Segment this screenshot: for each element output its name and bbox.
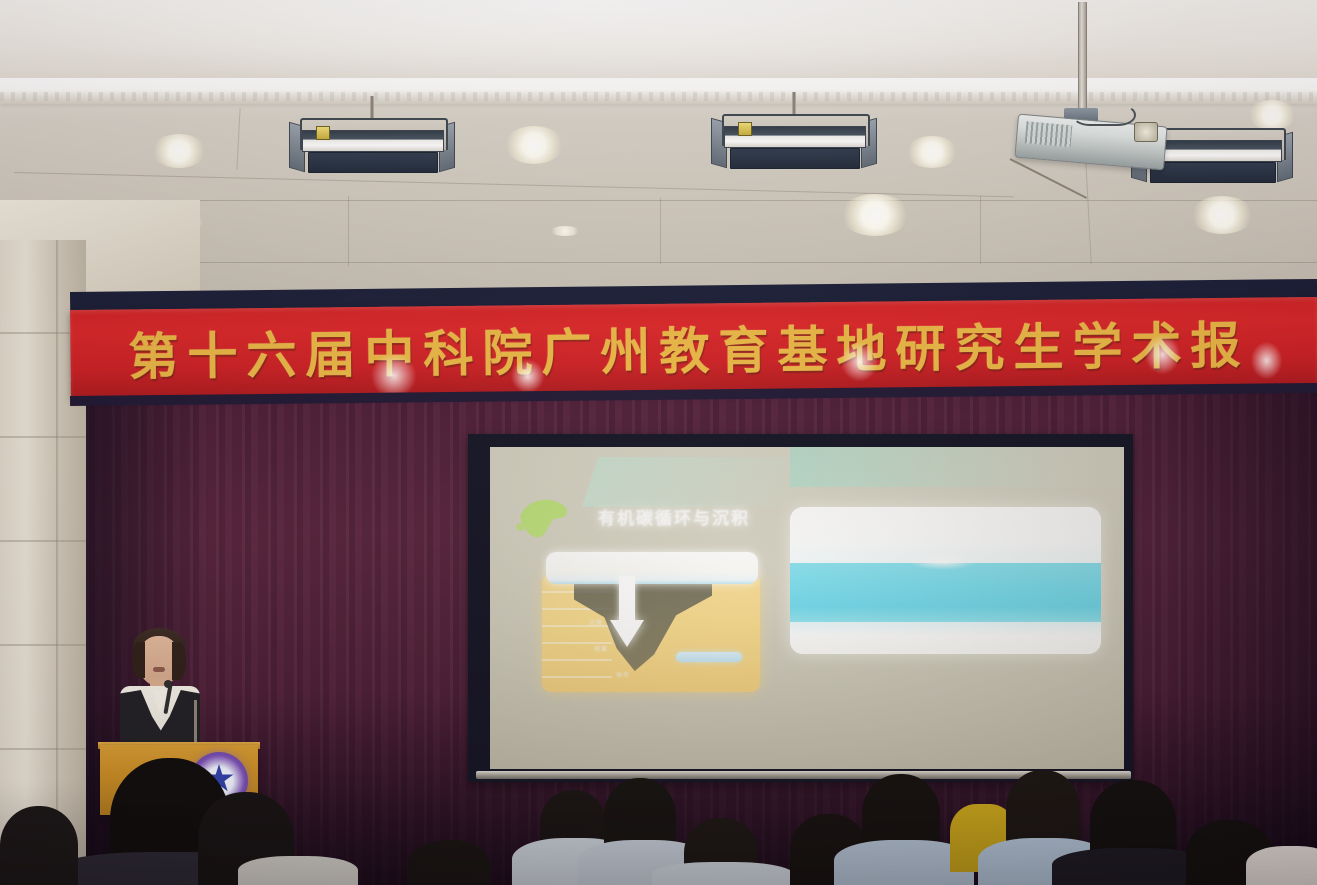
seascape-photo [790, 507, 1101, 654]
slide-title: 有机碳循环与沉积 [598, 504, 750, 529]
diagram-label: 沉降 [589, 618, 603, 627]
presenter-mouth [153, 667, 165, 672]
presenter-hair [172, 642, 186, 680]
presenter-hair [132, 642, 145, 678]
slide-light-sheen [790, 447, 1124, 487]
lecture-hall-photo: 第十六届中科院广州教育基地研究生学术报 有机碳循环与沉积 [0, 0, 1317, 885]
banner-glare [1250, 341, 1282, 379]
photo-sea [790, 563, 1101, 625]
downward-arrow-icon [610, 576, 644, 648]
arrow-shaft [619, 576, 635, 624]
diagram-label: 埋藏 [594, 644, 608, 653]
leaf-icon [512, 495, 574, 541]
diagram-callout-pill [676, 652, 742, 662]
projection-screen: 有机碳循环与沉积 沉降 埋藏 保存 [490, 447, 1124, 769]
audience-shoulders [238, 856, 358, 885]
photo-foam [790, 622, 1101, 654]
audience-shoulders [1246, 846, 1317, 885]
diagram-label: 保存 [616, 670, 630, 679]
slide-diagram: 沉降 埋藏 保存 [542, 552, 760, 692]
arrow-head [610, 620, 644, 647]
banner-text: 第十六届中科院广州教育基地研究生学术报 [128, 306, 1250, 390]
event-banner: 第十六届中科院广州教育基地研究生学术报 [70, 297, 1317, 398]
audience-shoulders [652, 862, 794, 885]
audience-head [0, 806, 78, 885]
microphone-head-icon [164, 680, 172, 688]
diagram-water-surface-box [546, 552, 758, 584]
audience-head [408, 840, 490, 885]
photo-cloud [908, 553, 976, 571]
